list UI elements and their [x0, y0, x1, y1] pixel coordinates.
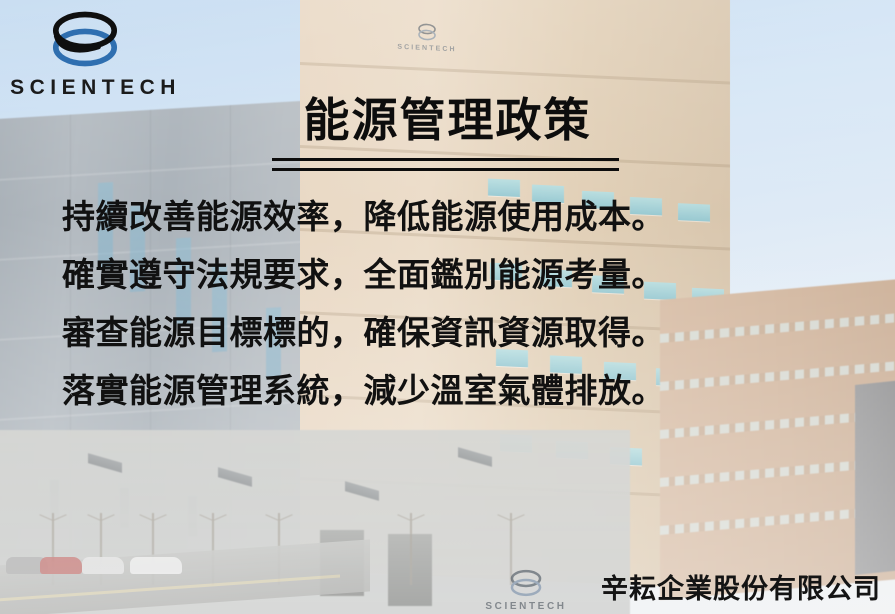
page-title: 能源管理政策: [0, 96, 895, 146]
wall-watermark-wordmark: SCIENTECH: [478, 601, 574, 612]
slide-content: SCIENTECH 能源管理政策 持續改善能源效率，降低能源使用成本。 確實遵守…: [0, 0, 895, 614]
footer-company-name: 辛耘企業股份有限公司: [601, 567, 881, 606]
policy-line: 確實遵守法規要求，全面鑑別能源考量。: [62, 258, 855, 291]
title-underline: [272, 158, 619, 171]
policy-line: 落實能源管理系統，減少溫室氣體排放。: [62, 374, 855, 407]
scientech-logo-icon: [503, 566, 549, 600]
slide-root: SCIENTECH: [0, 0, 895, 614]
policy-statement-list: 持續改善能源效率，降低能源使用成本。 確實遵守法規要求，全面鑑別能源考量。 審查…: [62, 200, 855, 432]
policy-line: 持續改善能源效率，降低能源使用成本。: [62, 200, 855, 233]
scientech-logo-icon: [36, 4, 134, 74]
policy-line: 審查能源目標標的，確保資訊資源取得。: [62, 316, 855, 349]
scientech-logo: SCIENTECH: [8, 4, 183, 100]
wall-watermark-logo: SCIENTECH: [478, 566, 574, 612]
